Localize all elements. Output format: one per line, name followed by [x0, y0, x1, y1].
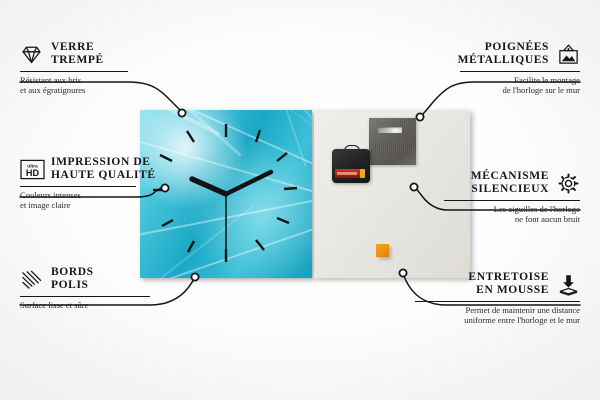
feature-title: ENTRETOISE EN MOUSSE — [468, 271, 549, 297]
feature-rule — [415, 301, 580, 302]
foam-spacer-icon — [557, 273, 580, 296]
polished-edges-icon — [20, 268, 43, 291]
feature-subtitle: Surface lisse et sûre — [20, 300, 170, 310]
foam-spacer — [376, 244, 389, 257]
feature-rule — [20, 71, 128, 72]
feature-rule — [460, 71, 580, 72]
feature-title: BORDS POLIS — [51, 266, 94, 292]
feature-verre-trempe[interactable]: VERRE TREMPÉ Résistant aux bris et aux é… — [20, 41, 160, 96]
feature-subtitle: Permet de maintenir une distance uniform… — [415, 305, 580, 326]
feature-entretoise[interactable]: ENTRETOISE EN MOUSSE Permet de maintenir… — [415, 271, 580, 326]
svg-text:HD: HD — [26, 168, 40, 178]
feature-header: ENTRETOISE EN MOUSSE — [415, 271, 580, 297]
feature-subtitle: Résistant aux bris et aux égratignures — [20, 75, 160, 96]
feature-header: BORDS POLIS — [20, 266, 170, 292]
feature-title: VERRE TREMPÉ — [51, 41, 104, 67]
infographic-page: VERRE TREMPÉ Résistant aux bris et aux é… — [0, 0, 600, 400]
feature-bords-polis[interactable]: BORDS POLIS Surface lisse et sûre — [20, 266, 170, 310]
wall-hanger-icon — [557, 43, 580, 66]
feature-subtitle: Couleurs intenses et image claire — [20, 190, 180, 211]
quartz-movement — [332, 145, 370, 183]
feature-subtitle: Les aiguilles de l'horloge ne font aucun… — [420, 204, 580, 225]
feature-header: POIGNÉES MÉTALLIQUES — [420, 41, 580, 67]
feature-impression[interactable]: ultra HD IMPRESSION DE HAUTE QUALITÉ Cou… — [20, 156, 180, 211]
clock-hands — [192, 172, 271, 250]
feature-header: VERRE TREMPÉ — [20, 41, 160, 67]
feature-title: MÉCANISME SILENCIEUX — [471, 170, 549, 196]
feature-title: POIGNÉES MÉTALLIQUES — [458, 41, 549, 67]
hanger-slot — [378, 127, 402, 133]
battery-plus-terminal — [360, 169, 365, 178]
feature-header: MÉCANISME SILENCIEUX — [420, 170, 580, 196]
metallic-hanger — [369, 118, 416, 165]
feature-header: ultra HD IMPRESSION DE HAUTE QUALITÉ — [20, 156, 180, 182]
feature-rule — [20, 186, 136, 187]
minute-hand — [226, 172, 271, 194]
feature-title: IMPRESSION DE HAUTE QUALITÉ — [51, 156, 156, 182]
feature-subtitle: Facilite le montage de l'horloge sur le … — [420, 75, 580, 96]
battery-label — [337, 172, 357, 175]
feature-rule — [444, 200, 580, 201]
feature-rule — [20, 296, 150, 297]
feature-mecanisme[interactable]: MÉCANISME SILENCIEUX Les aiguilles de l'… — [420, 170, 580, 225]
hour-hand — [192, 179, 226, 194]
hand-hub — [223, 191, 228, 196]
feature-poignees[interactable]: POIGNÉES MÉTALLIQUES Facilite le montage… — [420, 41, 580, 96]
diamond-icon — [20, 43, 43, 66]
gear-icon — [557, 172, 580, 195]
ultra-hd-icon: ultra HD — [20, 158, 43, 181]
